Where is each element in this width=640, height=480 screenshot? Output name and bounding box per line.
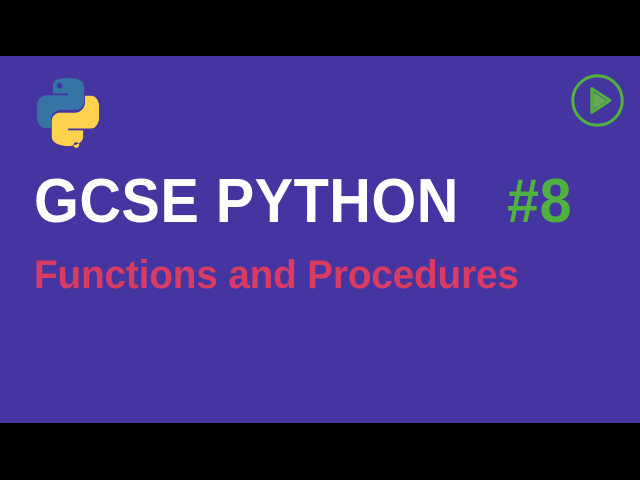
python-logo <box>37 78 99 161</box>
video-thumbnail-screen: GCSE PYTHON #8 Functions and Procedures <box>0 0 640 480</box>
slide-content-area: GCSE PYTHON #8 Functions and Procedures <box>0 56 640 423</box>
page-title: GCSE PYTHON #8 <box>34 169 620 235</box>
play-button-icon[interactable] <box>569 72 626 129</box>
title-main-text: GCSE PYTHON <box>34 171 459 233</box>
title-episode-number: #8 <box>507 171 572 233</box>
page-subtitle: Functions and Procedures <box>34 253 602 297</box>
letterbox-bar-top <box>0 0 640 56</box>
letterbox-bar-bottom <box>0 423 640 480</box>
